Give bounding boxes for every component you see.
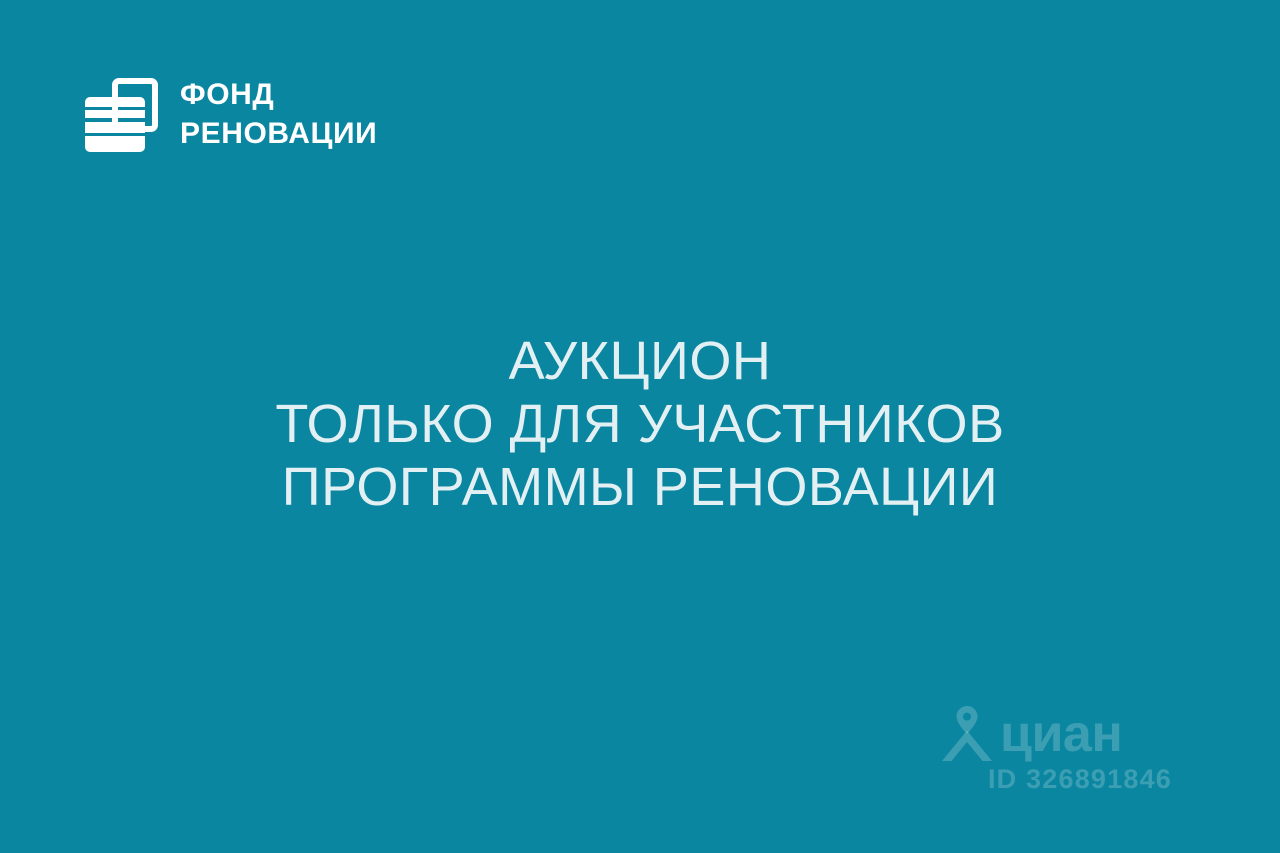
document-stack-shape: [85, 97, 145, 152]
cian-pin-chevron-icon: [940, 705, 994, 763]
cian-watermark: циан ID 326891846: [940, 705, 1172, 795]
brand-logo: ФОНД РЕНОВАЦИИ: [84, 74, 377, 154]
headline-line-1: АУКЦИОН: [40, 330, 1240, 393]
brand-line-fond: ФОНД: [180, 80, 377, 110]
brand-line-renovacii: РЕНОВАЦИИ: [180, 119, 377, 149]
auction-banner: ФОНД РЕНОВАЦИИ АУКЦИОН ТОЛЬКО ДЛЯ УЧАСТН…: [0, 0, 1280, 853]
headline-line-2: ТОЛЬКО ДЛЯ УЧАСТНИКОВ: [40, 393, 1240, 456]
stack-bar-3: [85, 122, 145, 133]
document-stack-icon: [84, 74, 162, 154]
cian-watermark-id: ID 326891846: [940, 765, 1172, 795]
brand-wordmark: ФОНД РЕНОВАЦИИ: [180, 80, 377, 149]
cian-watermark-word: циан: [1000, 708, 1122, 760]
cian-watermark-row: циан: [940, 705, 1172, 763]
stack-bar-4: [85, 136, 145, 152]
headline-block: АУКЦИОН ТОЛЬКО ДЛЯ УЧАСТНИКОВ ПРОГРАММЫ …: [0, 330, 1280, 519]
headline-line-3: ПРОГРАММЫ РЕНОВАЦИИ: [40, 456, 1240, 519]
stack-bar-2: [85, 110, 145, 118]
stack-bar-1: [85, 97, 145, 107]
